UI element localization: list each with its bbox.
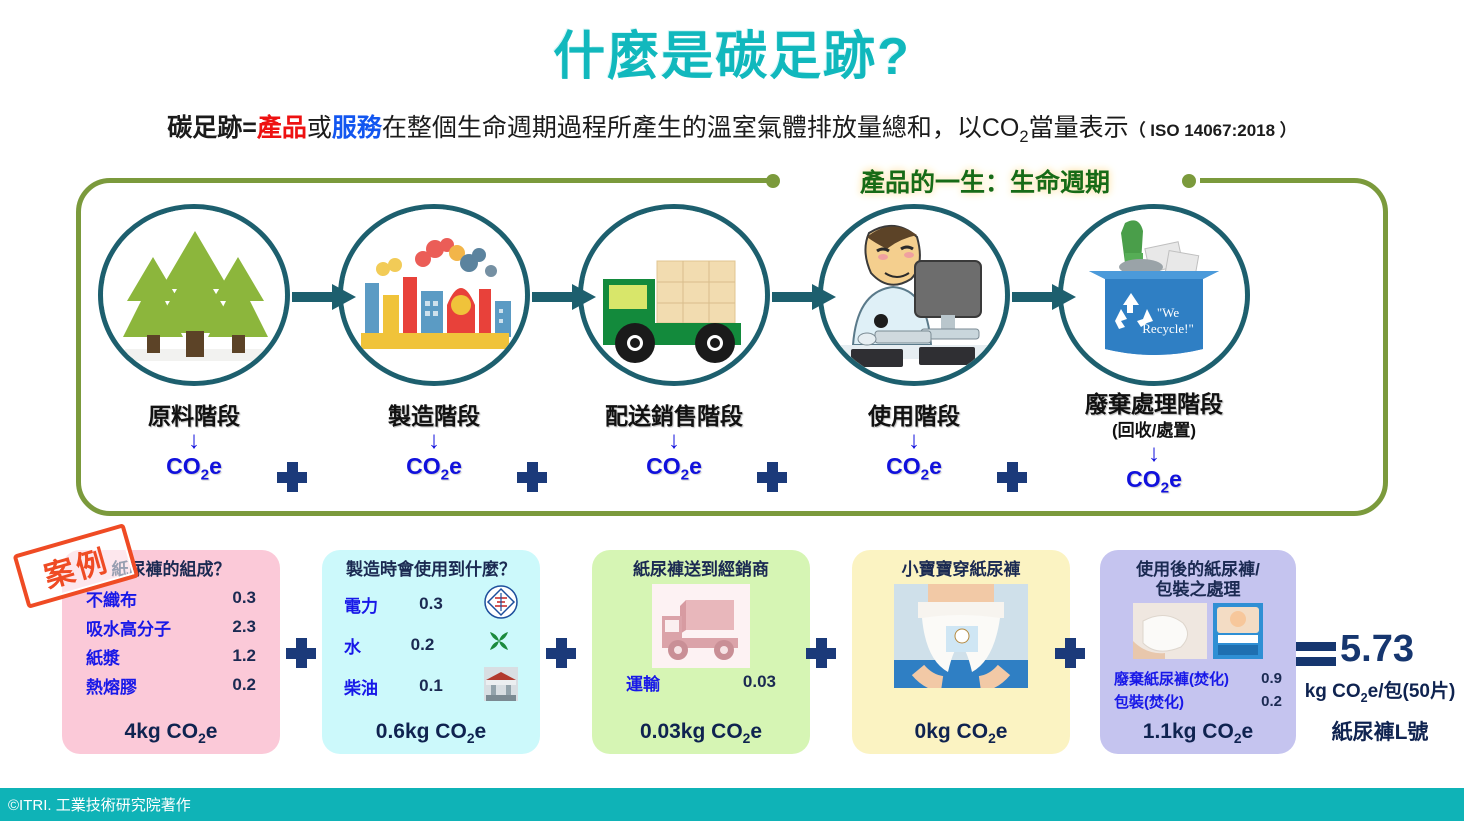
footer-bar: ©ITRI. 工業技術研究院著作 — [0, 788, 1464, 821]
stage-labels: 原料階段 ↓ CO2e 製造階段 ↓ CO2e 配送銷售階段 ↓ CO2e 使用… — [76, 404, 1388, 514]
row-value: 2.3 — [232, 617, 256, 637]
lifecycle-header: 產品的一生：生命週期 — [770, 164, 1200, 198]
iso-standard: （ ISO 14067:2018 ） — [1129, 121, 1297, 140]
stage-co2e: CO2e — [1029, 466, 1279, 497]
lifecycle-header-dot-right — [1182, 174, 1196, 188]
svg-text:Recycle!": Recycle!" — [1142, 321, 1194, 336]
card-total: 1.1kg CO2e — [1100, 720, 1296, 746]
table-row: 電力 0.3 — [330, 584, 532, 625]
subtitle-definition: 碳足跡=產品或服務在整個生命週期過程所產生的溫室氣體排放量總和，以CO2當量表示… — [0, 108, 1464, 147]
subtitle-co2-subscript: 2 — [1019, 128, 1028, 146]
row-label: 廢棄紙尿褲(焚化) — [1114, 668, 1229, 689]
row-value: 0.2 — [1261, 693, 1282, 710]
table-row: 運輸 0.03 — [600, 668, 802, 697]
table-row: 廢棄紙尿褲(焚化) 0.9 — [1108, 667, 1288, 690]
recycle-bin-icon: "We Recycle!" — [1063, 209, 1245, 381]
table-row: 吸水高分子 2.3 — [70, 613, 272, 642]
down-arrow-icon: ↓ — [309, 429, 559, 453]
lifecycle-stages: "We Recycle!" — [76, 196, 1388, 396]
person-computer-icon — [823, 209, 1005, 381]
used-diaper-photo — [1133, 603, 1207, 664]
row-value: 0.3 — [232, 588, 256, 608]
stage-label-disposal: 廢棄處理階段 (回收/處置) ↓ CO2e — [1029, 392, 1279, 497]
row-value: 1.2 — [232, 646, 256, 666]
row-value: 0.1 — [419, 676, 443, 696]
flow-arrow-3 — [772, 284, 836, 310]
card-total: 0.03kg CO2e — [592, 720, 810, 746]
card-total: 0.6kg CO2e — [322, 720, 540, 746]
subtitle-or: 或 — [307, 114, 332, 142]
stage-sub-name: (回收/處置) — [1029, 416, 1279, 441]
card-total: 4kg CO2e — [62, 720, 280, 746]
subtitle-rest2: 當量表示 — [1029, 114, 1129, 142]
case-plus-3 — [806, 638, 836, 668]
result-product: 紙尿褲L號 — [1296, 716, 1464, 746]
lifecycle-header-label: 產品的一生：生命週期 — [860, 163, 1110, 199]
stage-name: 使用階段 — [789, 404, 1039, 428]
row-value: 0.2 — [411, 635, 435, 655]
subtitle-service: 服務 — [332, 114, 382, 142]
stage-name: 配送銷售階段 — [549, 404, 799, 428]
row-value: 0.2 — [232, 675, 256, 695]
taipower-logo-icon — [484, 585, 518, 624]
result-number: 5.73 — [1340, 628, 1414, 671]
table-row: 紙漿 1.2 — [70, 642, 272, 671]
card-header: 製造時會使用到什麼？ — [330, 560, 532, 580]
flow-arrow-1 — [292, 284, 356, 310]
case-plus-2 — [546, 638, 576, 668]
stage-circle-use — [818, 204, 1010, 386]
case-card-manufacturing: 製造時會使用到什麼？ 電力 0.3 水 0.2 柴油 0.1 0.6kg CO2… — [322, 550, 540, 754]
stage-name: 原料階段 — [69, 404, 319, 428]
row-label: 水 — [344, 633, 361, 658]
stage-circle-distribution — [578, 204, 770, 386]
stage-name: 製造階段 — [309, 404, 559, 428]
row-label: 柴油 — [344, 674, 378, 699]
card-total: 0kg CO2e — [852, 720, 1070, 746]
card-header: 紙尿褲送到經銷商 — [600, 560, 802, 580]
row-value: 0.9 — [1261, 670, 1282, 687]
copyright-text: ©ITRI. 工業技術研究院著作 — [8, 794, 191, 815]
gas-station-photo — [484, 667, 518, 706]
row-label: 運輸 — [626, 670, 660, 695]
lifecycle-plus-1 — [277, 462, 307, 492]
row-label: 熱熔膠 — [86, 673, 137, 698]
table-row: 柴油 0.1 — [330, 666, 532, 707]
down-arrow-icon: ↓ — [789, 429, 1039, 453]
table-row: 水 0.2 — [330, 625, 532, 666]
row-label: 紙漿 — [86, 644, 120, 669]
card-header-line1: 使用後的紙尿褲/ — [1108, 560, 1288, 580]
row-label: 包裝(焚化) — [1114, 691, 1184, 712]
table-row: 包裝(焚化) 0.2 — [1108, 690, 1288, 713]
stage-circle-disposal: "We Recycle!" — [1058, 204, 1250, 386]
card-header: 小寶寶穿紙尿褲 — [860, 560, 1062, 580]
case-card-distribution: 紙尿褲送到經銷商 運輸 0.03 0.03kg CO2e — [592, 550, 810, 754]
water-company-logo-icon — [484, 626, 518, 665]
factory-icon — [343, 209, 525, 381]
subtitle-lead: 碳足跡= — [167, 114, 257, 142]
lifecycle-plus-4 — [997, 462, 1027, 492]
case-card-use: 小寶寶穿紙尿褲 0kg CO2e — [852, 550, 1070, 754]
lifecycle-plus-2 — [517, 462, 547, 492]
lifecycle-header-dot-left — [766, 174, 780, 188]
down-arrow-icon: ↓ — [1029, 442, 1279, 466]
case-plus-4 — [1055, 638, 1085, 668]
diaper-package-photo — [1213, 603, 1263, 664]
row-label: 電力 — [344, 592, 378, 617]
case-plus-1 — [286, 638, 316, 668]
case-cards: 紙尿褲的組成？ 不織布 0.3 吸水高分子 2.3 紙漿 1.2 熱熔膠 0.2… — [0, 550, 1464, 770]
row-value: 0.03 — [743, 672, 776, 692]
trees-icon — [103, 209, 285, 381]
card-header-line2: 包裝之處理 — [1108, 580, 1288, 600]
subtitle-product: 產品 — [257, 114, 307, 142]
row-value: 0.3 — [419, 594, 443, 614]
equals-icon — [1296, 642, 1336, 672]
truck-icon — [583, 209, 765, 381]
down-arrow-icon: ↓ — [69, 429, 319, 453]
table-row: 熱熔膠 0.2 — [70, 671, 272, 700]
flow-arrow-2 — [532, 284, 596, 310]
row-label: 吸水高分子 — [86, 615, 171, 640]
subtitle-rest: 在整個生命週期過程所產生的溫室氣體排放量總和，以CO — [382, 114, 1020, 142]
result-unit: kg CO2e/包(50片) — [1296, 676, 1464, 705]
flow-arrow-4 — [1012, 284, 1076, 310]
stage-circle-manufacturing — [338, 204, 530, 386]
page-title: 什麼是碳足跡? — [0, 14, 1464, 89]
svg-text:"We: "We — [1157, 305, 1180, 320]
case-card-disposal: 使用後的紙尿褲/ 包裝之處理 廢棄紙尿褲(焚化) 0.9 包裝(焚化) 0.2 … — [1100, 550, 1296, 754]
stage-circle-raw-material — [98, 204, 290, 386]
card-header: 使用後的紙尿褲/ 包裝之處理 — [1108, 560, 1288, 599]
stage-name: 廢棄處理階段 — [1029, 392, 1279, 416]
down-arrow-icon: ↓ — [549, 429, 799, 453]
delivery-truck-photo — [652, 584, 750, 668]
lifecycle-plus-3 — [757, 462, 787, 492]
baby-diaper-photo — [894, 584, 1028, 688]
